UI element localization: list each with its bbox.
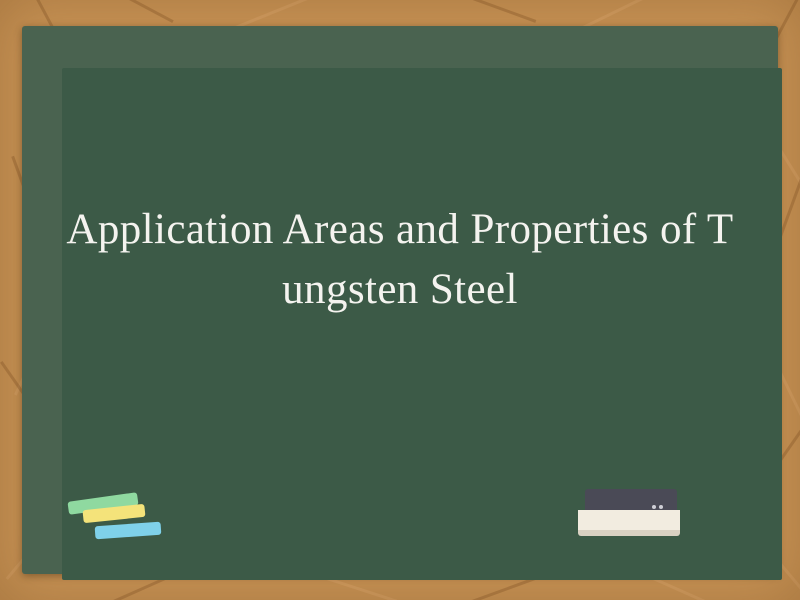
slide-canvas: Application Areas and Properties of Tung…	[0, 0, 800, 600]
wood-grain-streak	[404, 0, 537, 23]
board-eraser-shadow	[578, 530, 680, 536]
wood-grain-streak	[66, 0, 173, 23]
slide-title: Application Areas and Properties of Tung…	[40, 200, 760, 320]
board-eraser-grip-dots	[652, 496, 672, 501]
